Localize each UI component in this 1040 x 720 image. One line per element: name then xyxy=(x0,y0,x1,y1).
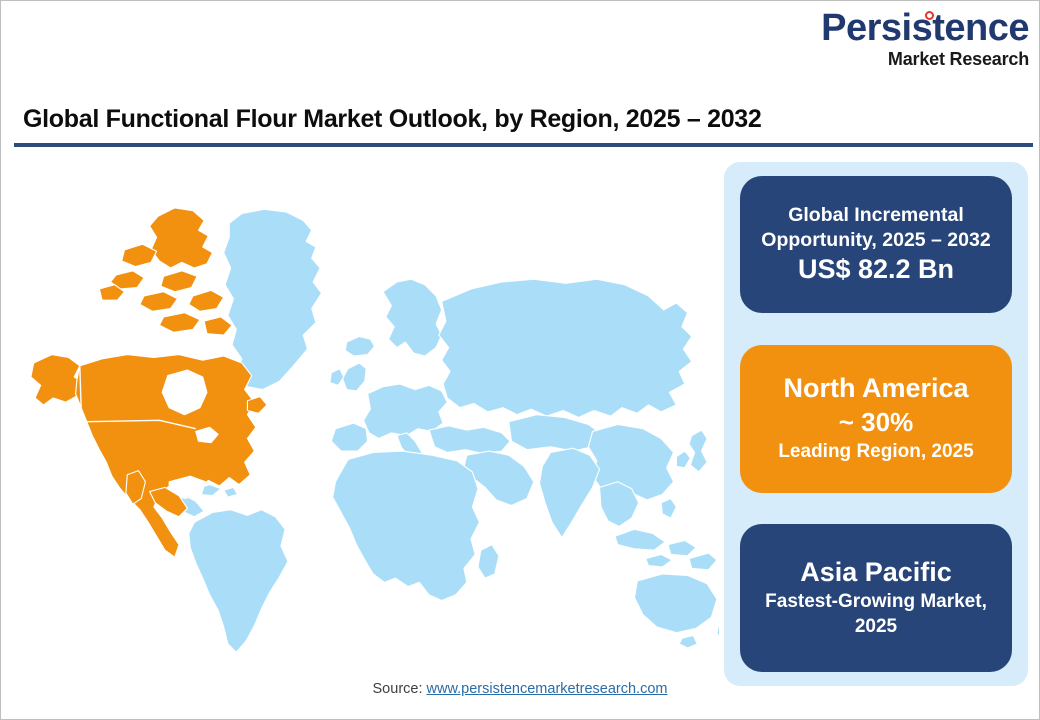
card-2-region: North America xyxy=(783,372,968,406)
source-label: Source: xyxy=(373,681,427,697)
stats-panel: Global Incremental Opportunity, 2025 – 2… xyxy=(724,162,1028,686)
logo-tagline: Market Research xyxy=(807,50,1029,68)
card-2-value: ~ 30% xyxy=(839,406,913,440)
title-divider xyxy=(14,143,1033,147)
card-3-caption: Fastest-Growing Market, 2025 xyxy=(754,590,998,639)
company-logo: Persistence Market Research xyxy=(807,9,1029,68)
infographic-root: Persistence Market Research Global Funct… xyxy=(0,0,1040,720)
page-title: Global Functional Flour Market Outlook, … xyxy=(23,105,762,134)
source-line: Source: www.persistencemarketresearch.co… xyxy=(1,681,1039,697)
card-leading-region: North America ~ 30% Leading Region, 2025 xyxy=(740,345,1012,493)
card-2-caption: Leading Region, 2025 xyxy=(778,440,973,465)
card-1-label-line-2: Opportunity, 2025 – 2032 xyxy=(761,228,990,253)
card-global-incremental-opportunity: Global Incremental Opportunity, 2025 – 2… xyxy=(740,176,1012,313)
card-fastest-growing-region: Asia Pacific Fastest-Growing Market, 202… xyxy=(740,524,1012,672)
card-3-region: Asia Pacific xyxy=(800,556,952,590)
logo-dot-icon xyxy=(925,11,934,20)
world-map xyxy=(19,159,719,669)
world-map-svg xyxy=(19,159,719,669)
card-1-value: US$ 82.2 Bn xyxy=(798,253,954,287)
logo-wordmark: Persistence xyxy=(807,9,1029,47)
source-link[interactable]: www.persistencemarketresearch.com xyxy=(427,681,668,697)
card-1-label-line-1: Global Incremental xyxy=(788,203,964,228)
